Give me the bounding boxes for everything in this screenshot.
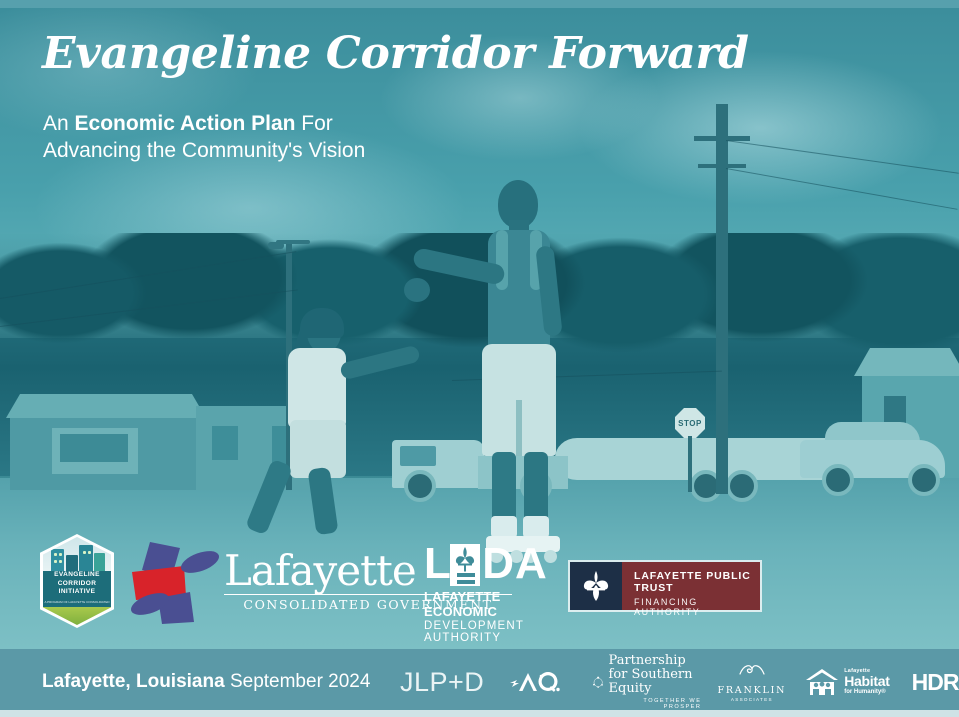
eci-nameplate: EVANGELINE CORRIDOR INITIATIVE A PROGRAM… <box>43 571 111 607</box>
eci-window <box>88 551 91 554</box>
photo-car-wheel <box>822 464 854 496</box>
fleur-de-lis-star-icon <box>579 569 613 603</box>
eci-window <box>59 560 62 563</box>
partner-logo-row: JLP+D <box>400 659 945 705</box>
habitat-line-1: Habitat <box>844 674 889 688</box>
footer-bar: Lafayette, Louisiana September 2024 JLP+… <box>0 649 959 717</box>
logo-lafayette-consolidated-government: Lafayette CONSOLIDATED GOVERNMENT <box>128 538 396 626</box>
photo-utility-pole <box>716 104 728 494</box>
lptfa-line-2: FINANCING AUTHORITY <box>634 597 760 617</box>
subtitle-prefix: An <box>43 112 75 135</box>
eci-building <box>79 545 93 573</box>
aq-mark-icon <box>508 669 562 695</box>
leda-e-bar <box>457 573 475 577</box>
photo-house-right-roof <box>854 348 959 376</box>
logo-jlpd: JLP+D <box>400 667 484 698</box>
photo-streetlamp-head <box>268 242 284 249</box>
subtitle-suffix: For <box>295 112 332 135</box>
leda-line-2: DEVELOPMENT AUTHORITY <box>424 620 554 644</box>
stop-sign-icon: STOP <box>675 408 705 438</box>
eci-window <box>59 553 62 556</box>
pse-tagline: TOGETHER WE PROSPER <box>609 698 702 710</box>
photo-truck-wheel <box>404 470 436 502</box>
leda-e-bar <box>457 580 475 584</box>
franklin-tagline: ASSOCIATES <box>717 697 786 702</box>
eci-building <box>51 549 64 573</box>
pse-orbit-icon <box>592 668 604 696</box>
photo-car-wheel <box>908 464 940 496</box>
leda-line-1: LAFAYETTE ECONOMIC <box>424 589 554 619</box>
eci-window <box>83 551 86 554</box>
lptfa-nameplate: LAFAYETTE PUBLIC TRUST FINANCING AUTHORI… <box>622 562 760 610</box>
lptfa-line-1: LAFAYETTE PUBLIC TRUST <box>634 570 760 594</box>
page-subtitle: An Economic Action Plan For Advancing th… <box>43 110 365 164</box>
logo-lafayette-economic-development-authority: LEDA LAFAYETTE ECONOMIC DEVELOPMENT AUTH… <box>424 542 554 622</box>
footer-location-date: Lafayette, Louisiana September 2024 <box>42 671 370 693</box>
leda-wordmark: LEDA <box>424 542 554 588</box>
photo-house-left-roof <box>6 394 206 418</box>
logo-partnership-for-southern-equity: Partnership for Southern Equity TOGETHER… <box>592 654 701 710</box>
photo-stop-sign-post <box>688 436 692 492</box>
leda-letters: LEDA <box>424 539 548 588</box>
logo-evangeline-corridor-initiative: EVANGELINE CORRIDOR INITIATIVE A PROGRAM… <box>40 534 114 628</box>
footer-bottom-rule <box>0 710 959 717</box>
subtitle-emphasis: Economic Action Plan <box>75 112 296 135</box>
franklin-wordmark: FRANKLIN <box>717 685 786 696</box>
subtitle-line-1: An Economic Action Plan For <box>43 110 365 137</box>
photo-truck-window <box>400 446 436 466</box>
logo-lafayette-public-trust-financing-authority: LAFAYETTE PUBLIC TRUST FINANCING AUTHORI… <box>568 560 762 612</box>
eci-building <box>94 553 105 573</box>
footer-location: Lafayette, Louisiana <box>42 671 225 692</box>
eci-ground <box>43 607 111 625</box>
subtitle-line-2: Advancing the Community's Vision <box>43 137 365 164</box>
eci-line-3: INITIATIVE <box>43 588 111 597</box>
top-accent-strip <box>0 0 959 8</box>
photo-truck-wheel <box>726 470 758 502</box>
footer-date: September 2024 <box>225 671 371 692</box>
document-cover: STOP <box>0 0 959 717</box>
pse-wordmark: Partnership for Southern Equity <box>609 654 702 696</box>
logo-hdr: HDR <box>912 669 959 696</box>
eci-window <box>54 560 57 563</box>
page-title: Evangeline Corridor Forward <box>42 28 749 79</box>
lcg-pinwheel-icon <box>128 540 232 624</box>
photo-utility-crossarm <box>694 136 750 141</box>
logo-lafayette-habitat-for-humanity: Lafayette Habitat for Humanity® <box>804 667 889 697</box>
lptfa-emblem <box>570 562 622 610</box>
eci-line-1: EVANGELINE <box>43 571 111 580</box>
fleur-de-lis-icon <box>453 546 477 572</box>
logo-franklin-associates: FRANKLIN ASSOCIATES <box>717 662 786 702</box>
sponsor-logo-row: EVANGELINE CORRIDOR INITIATIVE A PROGRAM… <box>0 528 959 636</box>
photo-utility-crossarm <box>698 164 746 168</box>
eci-line-2: CORRIDOR <box>43 580 111 589</box>
habitat-line-2: for Humanity® <box>844 689 889 695</box>
photo-house-left-window <box>60 434 128 462</box>
logo-aq <box>508 669 562 695</box>
photo-house-left-2-window <box>212 426 238 460</box>
franklin-swirl-icon <box>739 662 765 679</box>
habitat-house-icon <box>804 667 840 697</box>
eci-window <box>54 553 57 556</box>
